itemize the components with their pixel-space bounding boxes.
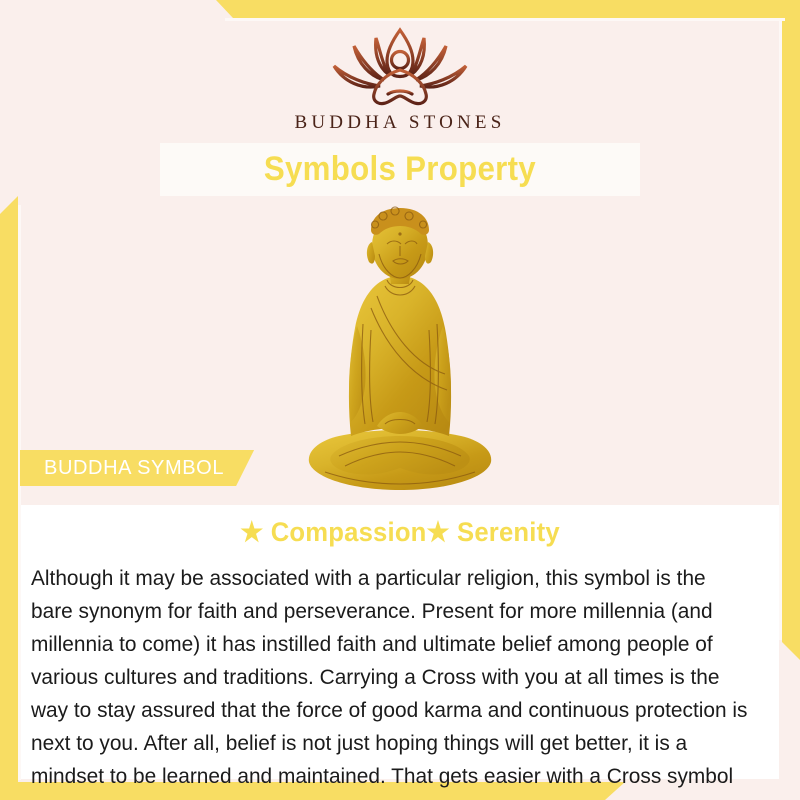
seated-buddha-statue-icon bbox=[305, 204, 495, 492]
poster-canvas: BUDDHA STONES Symbols Property bbox=[0, 0, 800, 800]
content-panel: ★ Compassion★ Serenity Although it may b… bbox=[21, 505, 779, 779]
lotus-meditation-icon bbox=[310, 22, 490, 108]
buddha-symbol-ribbon: BUDDHA SYMBOL bbox=[20, 450, 254, 486]
title-banner: Symbols Property bbox=[160, 143, 640, 196]
page-title: Symbols Property bbox=[264, 150, 536, 189]
buddha-illustration bbox=[0, 202, 800, 492]
decorative-gap-top bbox=[225, 18, 785, 21]
decorative-border-top bbox=[213, 0, 800, 18]
content-paragraph: Although it may be associated with a par… bbox=[31, 562, 749, 800]
brand-header: BUDDHA STONES bbox=[0, 22, 800, 134]
brand-name: BUDDHA STONES bbox=[0, 112, 800, 134]
content-subtitle: ★ Compassion★ Serenity bbox=[40, 517, 760, 548]
ribbon-label: BUDDHA SYMBOL bbox=[44, 457, 224, 480]
